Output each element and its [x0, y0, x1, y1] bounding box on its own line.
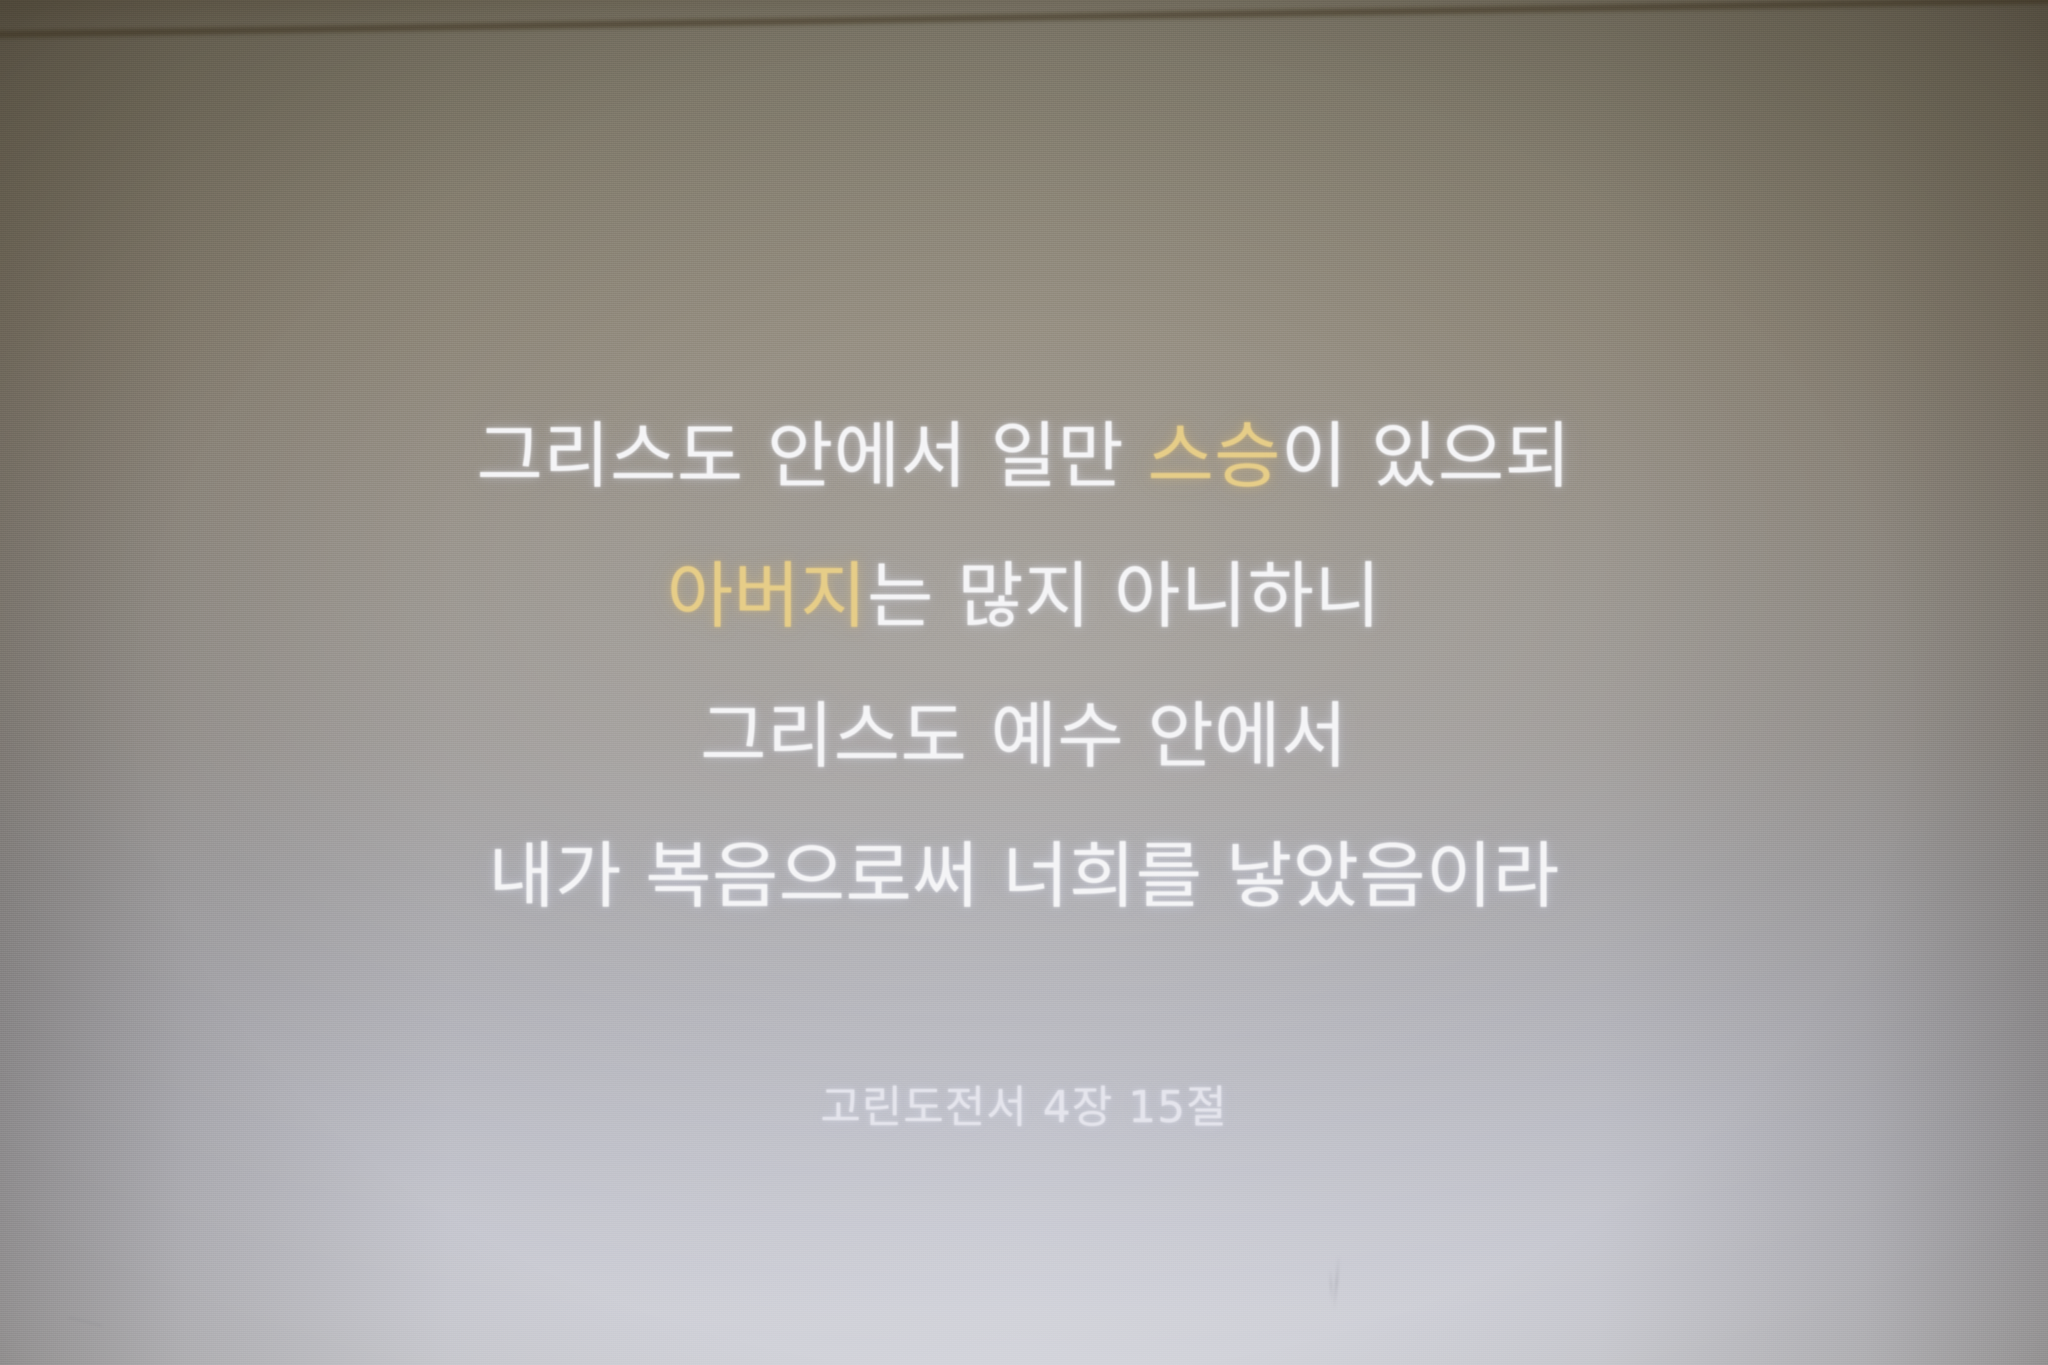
projection-photo-scene: 그리스도 안에서 일만 스승이 있으되 아버지는 많지 아니하니 그리스도 예수…	[0, 0, 2048, 1365]
wall-horizontal-falloff	[0, 0, 2048, 1365]
